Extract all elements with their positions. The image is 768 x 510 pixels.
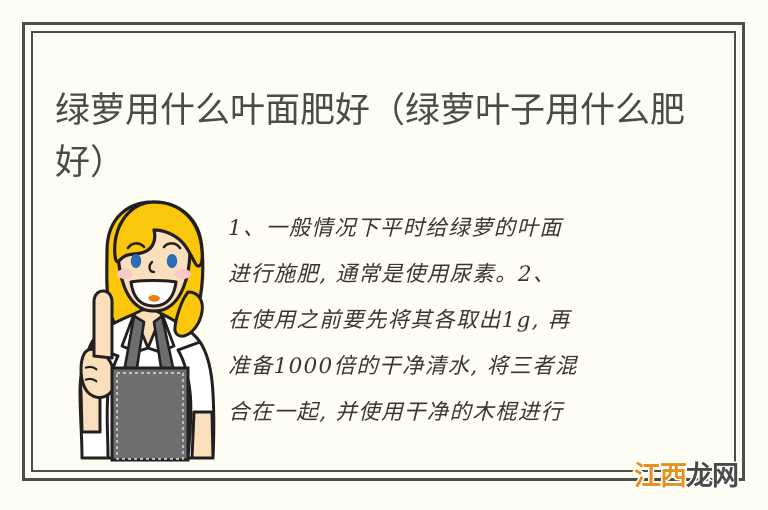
page-title: 绿萝用什么叶面肥好（绿萝叶子用什么肥好） [55,85,695,189]
watermark-text-secondary: 龙网 [686,461,738,491]
body-line: 准备1000倍的干净清水, 将三者混 [228,344,660,390]
document-page: 绿萝用什么叶面肥好（绿萝叶子用什么肥好） [0,0,768,510]
watermark-text-primary: 江西 [634,461,686,491]
body-line: 1、一般情况下平时给绿萝的叶面 [228,206,660,252]
site-watermark: 江西龙网 [634,461,738,491]
body-line: 合在一起, 并使用干净的木棍进行 [228,390,660,436]
body-line: 在使用之前要先将其各取出1g, 再 [228,298,660,344]
body-line: 进行施肥, 通常是使用尿素。2、 [228,252,660,298]
cartoon-woman-illustration [62,196,234,464]
article-body: 1、一般情况下平时给绿萝的叶面 进行施肥, 通常是使用尿素。2、 在使用之前要先… [228,206,660,456]
